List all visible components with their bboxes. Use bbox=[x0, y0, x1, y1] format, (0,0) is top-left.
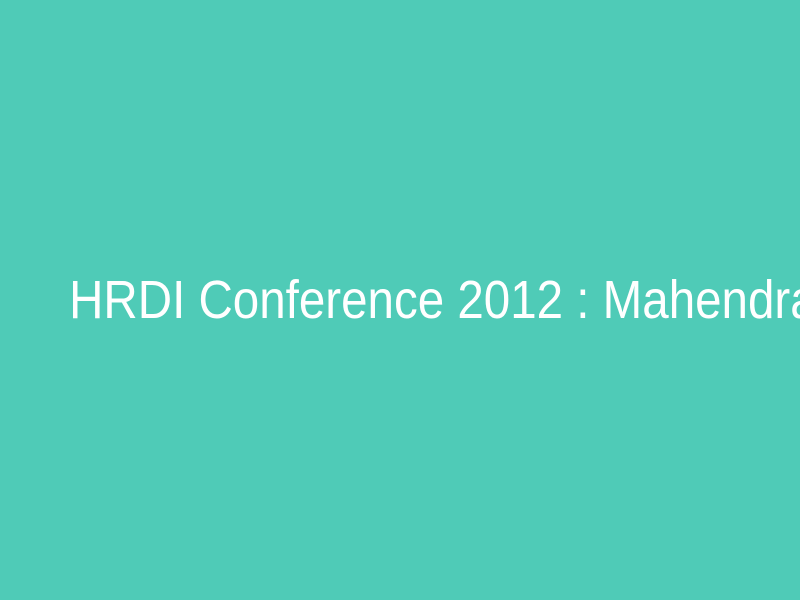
title-card: HRDI Conference 2012 : Mahendra bbox=[0, 0, 800, 600]
page-title: HRDI Conference 2012 : Mahendra bbox=[69, 272, 731, 329]
title-block: HRDI Conference 2012 : Mahendra bbox=[0, 272, 800, 329]
